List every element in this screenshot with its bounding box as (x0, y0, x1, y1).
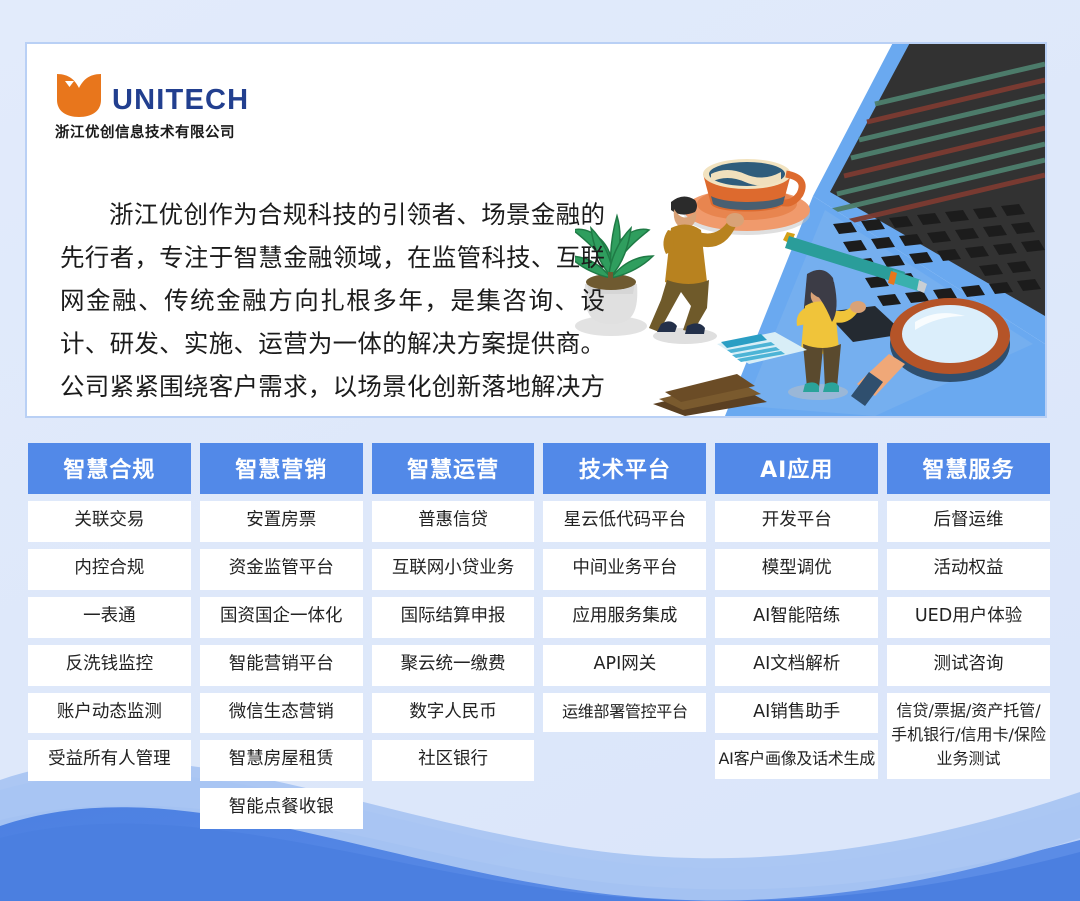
capability-item[interactable]: AI客户画像及话术生成 (715, 740, 878, 779)
capability-item[interactable]: 活动权益 (887, 549, 1050, 590)
capability-item[interactable]: 模型调优 (715, 549, 878, 590)
capability-column: 智慧服务后督运维活动权益UED用户体验测试咨询信贷/票据/资产托管/手机银行/信… (887, 443, 1050, 829)
capability-item[interactable]: 国资国企一体化 (200, 597, 363, 638)
capability-column-header[interactable]: 智慧服务 (887, 443, 1050, 494)
capability-table: 智慧合规关联交易内控合规一表通反洗钱监控账户动态监测受益所有人管理智慧营销安置房… (28, 443, 1050, 829)
capability-item[interactable]: 社区银行 (372, 740, 535, 781)
capability-item[interactable]: 国际结算申报 (372, 597, 535, 638)
capability-item[interactable]: UED用户体验 (887, 597, 1050, 638)
capability-item[interactable]: 互联网小贷业务 (372, 549, 535, 590)
company-description: 浙江优创作为合规科技的引领者、场景金融的先行者，专注于智慧金融领域，在监管科技、… (60, 193, 605, 419)
capability-item[interactable]: 测试咨询 (887, 645, 1050, 686)
logo-wordmark: UNITECH (112, 86, 249, 118)
capability-item[interactable]: 智慧房屋租赁 (200, 740, 363, 781)
company-logo: UNITECH 浙江优创信息技术有限公司 (55, 72, 249, 142)
capability-item[interactable]: 星云低代码平台 (543, 501, 706, 542)
capability-item[interactable]: 数字人民币 (372, 693, 535, 734)
capability-item[interactable]: 受益所有人管理 (28, 740, 191, 781)
unitech-tulip-icon (55, 72, 103, 118)
capability-column-header[interactable]: 智慧合规 (28, 443, 191, 494)
logo-subtitle: 浙江优创信息技术有限公司 (55, 121, 249, 142)
capability-item[interactable]: 智能营销平台 (200, 645, 363, 686)
capability-item[interactable]: 中间业务平台 (543, 549, 706, 590)
capability-column: AI应用开发平台模型调优AI智能陪练AI文档解析AI销售助手AI客户画像及话术生… (715, 443, 878, 829)
capability-item[interactable]: 反洗钱监控 (28, 645, 191, 686)
capability-item[interactable]: 微信生态营销 (200, 693, 363, 734)
wave-dark-front (0, 824, 1080, 901)
capability-item[interactable]: 运维部署管控平台 (543, 693, 706, 732)
capability-column: 技术平台星云低代码平台中间业务平台应用服务集成API网关运维部署管控平台 (543, 443, 706, 829)
capability-item[interactable]: 应用服务集成 (543, 597, 706, 638)
capability-item[interactable]: 安置房票 (200, 501, 363, 542)
capability-column-header[interactable]: 智慧营销 (200, 443, 363, 494)
isometric-desk-illustration (575, 44, 1045, 416)
capability-item[interactable]: 后督运维 (887, 501, 1050, 542)
capability-item[interactable]: API网关 (543, 645, 706, 686)
capability-item[interactable]: 聚云统一缴费 (372, 645, 535, 686)
capability-item[interactable]: 关联交易 (28, 501, 191, 542)
capability-column-header[interactable]: AI应用 (715, 443, 878, 494)
capability-item[interactable]: AI智能陪练 (715, 597, 878, 638)
capability-column: 智慧营销安置房票资金监管平台国资国企一体化智能营销平台微信生态营销智慧房屋租赁智… (200, 443, 363, 829)
capability-column: 智慧合规关联交易内控合规一表通反洗钱监控账户动态监测受益所有人管理 (28, 443, 191, 829)
capability-column: 智慧运营普惠信贷互联网小贷业务国际结算申报聚云统一缴费数字人民币社区银行 (372, 443, 535, 829)
capability-item[interactable]: 普惠信贷 (372, 501, 535, 542)
capability-item[interactable]: 一表通 (28, 597, 191, 638)
capability-column-header[interactable]: 智慧运营 (372, 443, 535, 494)
capability-item[interactable]: 内控合规 (28, 549, 191, 590)
capability-item[interactable]: 开发平台 (715, 501, 878, 542)
capability-item[interactable]: AI销售助手 (715, 693, 878, 734)
capability-item[interactable]: 智能点餐收银 (200, 788, 363, 829)
capability-item[interactable]: AI文档解析 (715, 645, 878, 686)
company-profile-card: UNITECH 浙江优创信息技术有限公司 浙江优创作为合规科技的引领者、场景金融… (25, 42, 1047, 418)
capability-item[interactable]: 资金监管平台 (200, 549, 363, 590)
capability-item[interactable]: 账户动态监测 (28, 693, 191, 734)
capability-item[interactable]: 信贷/票据/资产托管/手机银行/信用卡/保险业务测试 (887, 693, 1050, 779)
capability-column-header[interactable]: 技术平台 (543, 443, 706, 494)
